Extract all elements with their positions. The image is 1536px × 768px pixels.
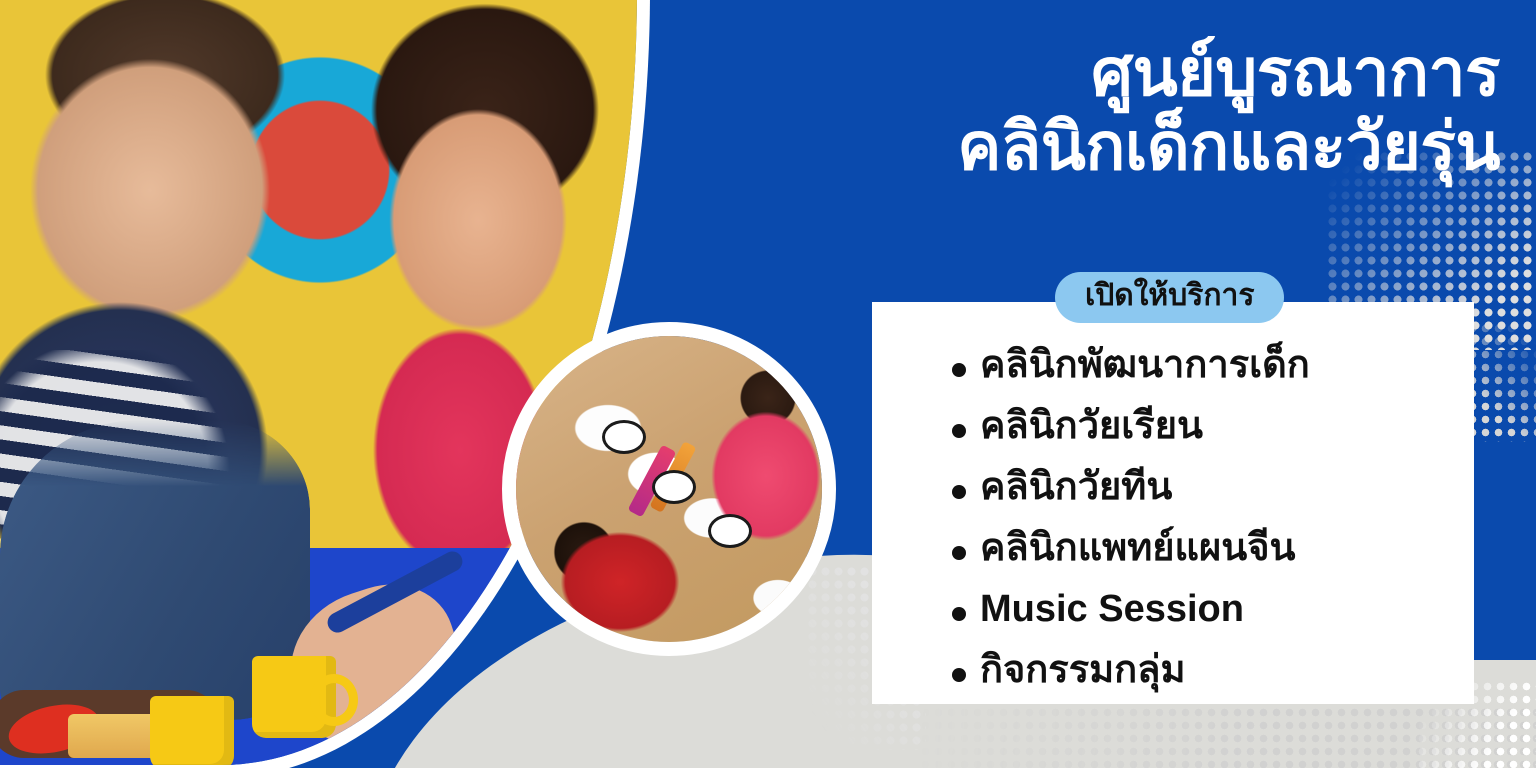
circle-inset-photo xyxy=(502,322,836,656)
toy-cup-right xyxy=(252,656,336,738)
service-label: คลินิกพัฒนาการเด็ก xyxy=(980,344,1310,386)
service-label: Music Session xyxy=(980,588,1244,630)
smiley-drawing-1 xyxy=(602,420,646,454)
service-label: คลินิกแพทย์แผนจีน xyxy=(980,527,1296,569)
title-line-1: ศูนย์บูรณาการ xyxy=(1091,35,1500,109)
list-item: คลินิกวัยเรียน xyxy=(980,407,1474,445)
list-item: Music Session xyxy=(980,590,1474,628)
list-item: คลินิกพัฒนาการเด็ก xyxy=(980,346,1474,384)
services-card: คลินิกพัฒนาการเด็ก คลินิกวัยเรียน คลินิก… xyxy=(872,302,1474,704)
service-label: กิจกรรมกลุ่ม xyxy=(980,649,1186,691)
bullet-icon xyxy=(952,424,966,438)
services-list: คลินิกพัฒนาการเด็ก คลินิกวัยเรียน คลินิก… xyxy=(872,302,1474,689)
page-title: ศูนย์บูรณาการ คลินิกเด็กและวัยรุ่น xyxy=(840,36,1500,184)
bullet-icon xyxy=(952,668,966,682)
smiley-drawing-2 xyxy=(652,470,696,504)
title-line-2: คลินิกเด็กและวัยรุ่น xyxy=(840,110,1500,184)
list-item: คลินิกวัยทีน xyxy=(980,468,1474,506)
banner-root: ศูนย์บูรณาการ คลินิกเด็กและวัยรุ่น คลินิ… xyxy=(0,0,1536,768)
bullet-icon xyxy=(952,363,966,377)
toy-cup-left xyxy=(150,696,234,768)
service-label: คลินิกวัยทีน xyxy=(980,466,1172,508)
smiley-drawing-3 xyxy=(708,514,752,548)
list-item: คลินิกแพทย์แผนจีน xyxy=(980,529,1474,567)
bullet-icon xyxy=(952,607,966,621)
bullet-icon xyxy=(952,546,966,560)
service-label: คลินิกวัยเรียน xyxy=(980,405,1203,447)
list-item: กิจกรรมกลุ่ม xyxy=(980,651,1474,689)
bullet-icon xyxy=(952,485,966,499)
status-badge: เปิดให้บริการ xyxy=(1055,272,1284,323)
